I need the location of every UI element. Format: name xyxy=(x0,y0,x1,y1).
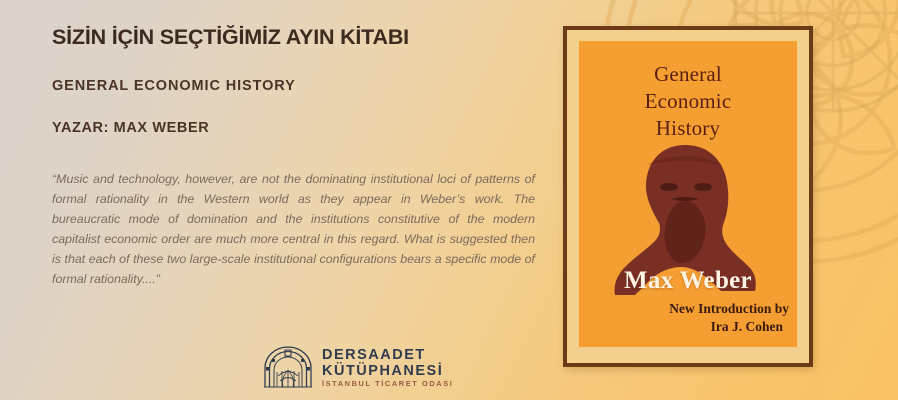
page-title: SİZİN İÇİN SEÇTİĞİMİZ AYIN KİTABI xyxy=(52,26,552,50)
cover-intro-line-1: New Introduction by xyxy=(579,300,789,317)
book-cover-image: General Economic History xyxy=(579,41,797,347)
cover-author-name: Max Weber xyxy=(579,267,797,295)
library-logo: DERSAADET KÜTÜPHANESİ İSTANBUL TİCARET O… xyxy=(263,345,453,389)
cover-title-line-2: Economic xyxy=(579,88,797,115)
logo-line-istanbul-ticaret-odasi: İSTANBUL TİCARET ODASI xyxy=(322,380,453,387)
banner-text-column: SİZİN İÇİN SEÇTİĞİMİZ AYIN KİTABI GENERA… xyxy=(52,26,552,289)
book-title-label: GENERAL ECONOMIC HISTORY xyxy=(52,78,552,94)
logo-line-kutuphanesi: KÜTÜPHANESİ xyxy=(322,364,453,379)
book-author-label: YAZAR: MAX WEBER xyxy=(52,120,552,136)
book-of-the-month-banner: SİZİN İÇİN SEÇTİĞİMİZ AYIN KİTABI GENERA… xyxy=(0,0,898,400)
book-quote-text: “Music and technology, however, are not … xyxy=(52,169,535,290)
logo-line-dersaadet: DERSAADET xyxy=(322,348,453,363)
cover-title-line-3: History xyxy=(579,115,797,142)
cover-introduction-credit: New Introduction by Ira J. Cohen xyxy=(579,300,789,335)
book-cover-frame: General Economic History xyxy=(563,26,813,367)
cover-intro-line-2: Ira J. Cohen xyxy=(579,318,789,335)
library-arch-emblem-icon xyxy=(263,345,313,389)
cover-title-line-1: General xyxy=(579,61,797,88)
library-logo-text: DERSAADET KÜTÜPHANESİ İSTANBUL TİCARET O… xyxy=(322,346,453,387)
cover-title: General Economic History xyxy=(579,61,797,142)
